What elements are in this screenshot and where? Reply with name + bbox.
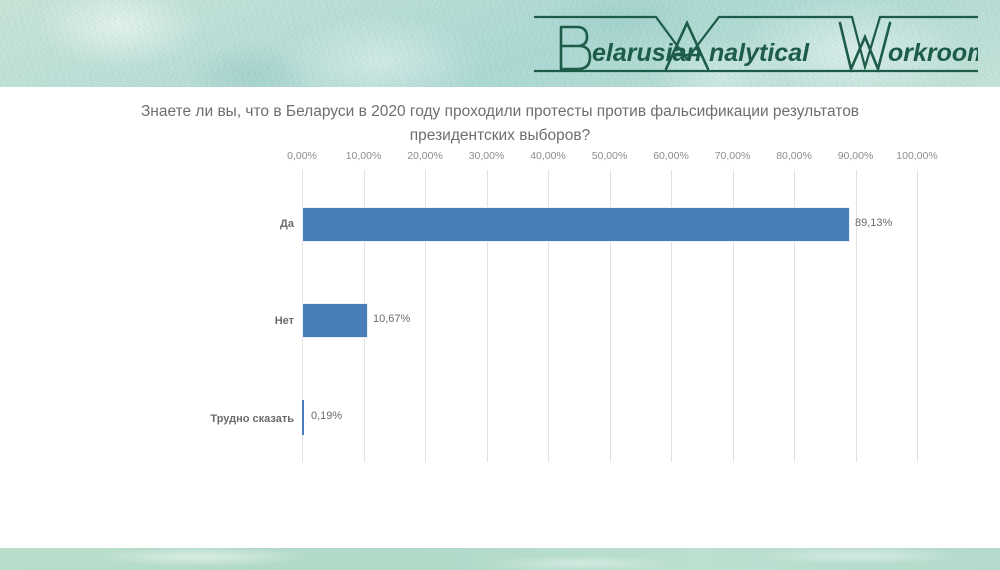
bar-trudno-skazat[interactable] xyxy=(302,400,304,435)
category-label-da: Да xyxy=(34,218,294,230)
logo-letter-w xyxy=(840,23,890,69)
logo-word-workroom: orkroom xyxy=(888,39,978,67)
x-axis-tick-labels: 0,00% 10,00% 20,00% 30,00% 40,00% 50,00%… xyxy=(0,150,1000,166)
bar-value-da: 89,13% xyxy=(855,217,892,229)
category-label-net: Нет xyxy=(34,315,294,327)
gridline xyxy=(917,170,918,462)
y-axis-category-labels: Да Нет Трудно сказать xyxy=(30,170,294,462)
logo-word-analytical: nalytical xyxy=(709,39,810,67)
bar-value-net: 10,67% xyxy=(373,313,410,325)
gridline xyxy=(856,170,857,462)
logo-letter-b xyxy=(561,27,590,69)
bar-net[interactable] xyxy=(302,303,368,338)
chart-title: Знаете ли вы, что в Беларуси в 2020 году… xyxy=(100,100,900,148)
category-label-hard: Трудно сказать xyxy=(34,413,294,425)
bottom-accent-strip xyxy=(0,548,1000,570)
brand-logo: elarusian nalytical orkroom xyxy=(534,11,978,79)
plot-area: 89,13% 10,67% 0,19% xyxy=(302,170,917,462)
bar-da[interactable] xyxy=(302,207,850,242)
x-tick-label: 100,00% xyxy=(872,150,962,162)
bar-value-trudno-skazat: 0,19% xyxy=(311,410,342,422)
logo-word-belarusian: elarusian xyxy=(592,39,702,67)
top-banner: elarusian nalytical orkroom xyxy=(0,0,1000,87)
